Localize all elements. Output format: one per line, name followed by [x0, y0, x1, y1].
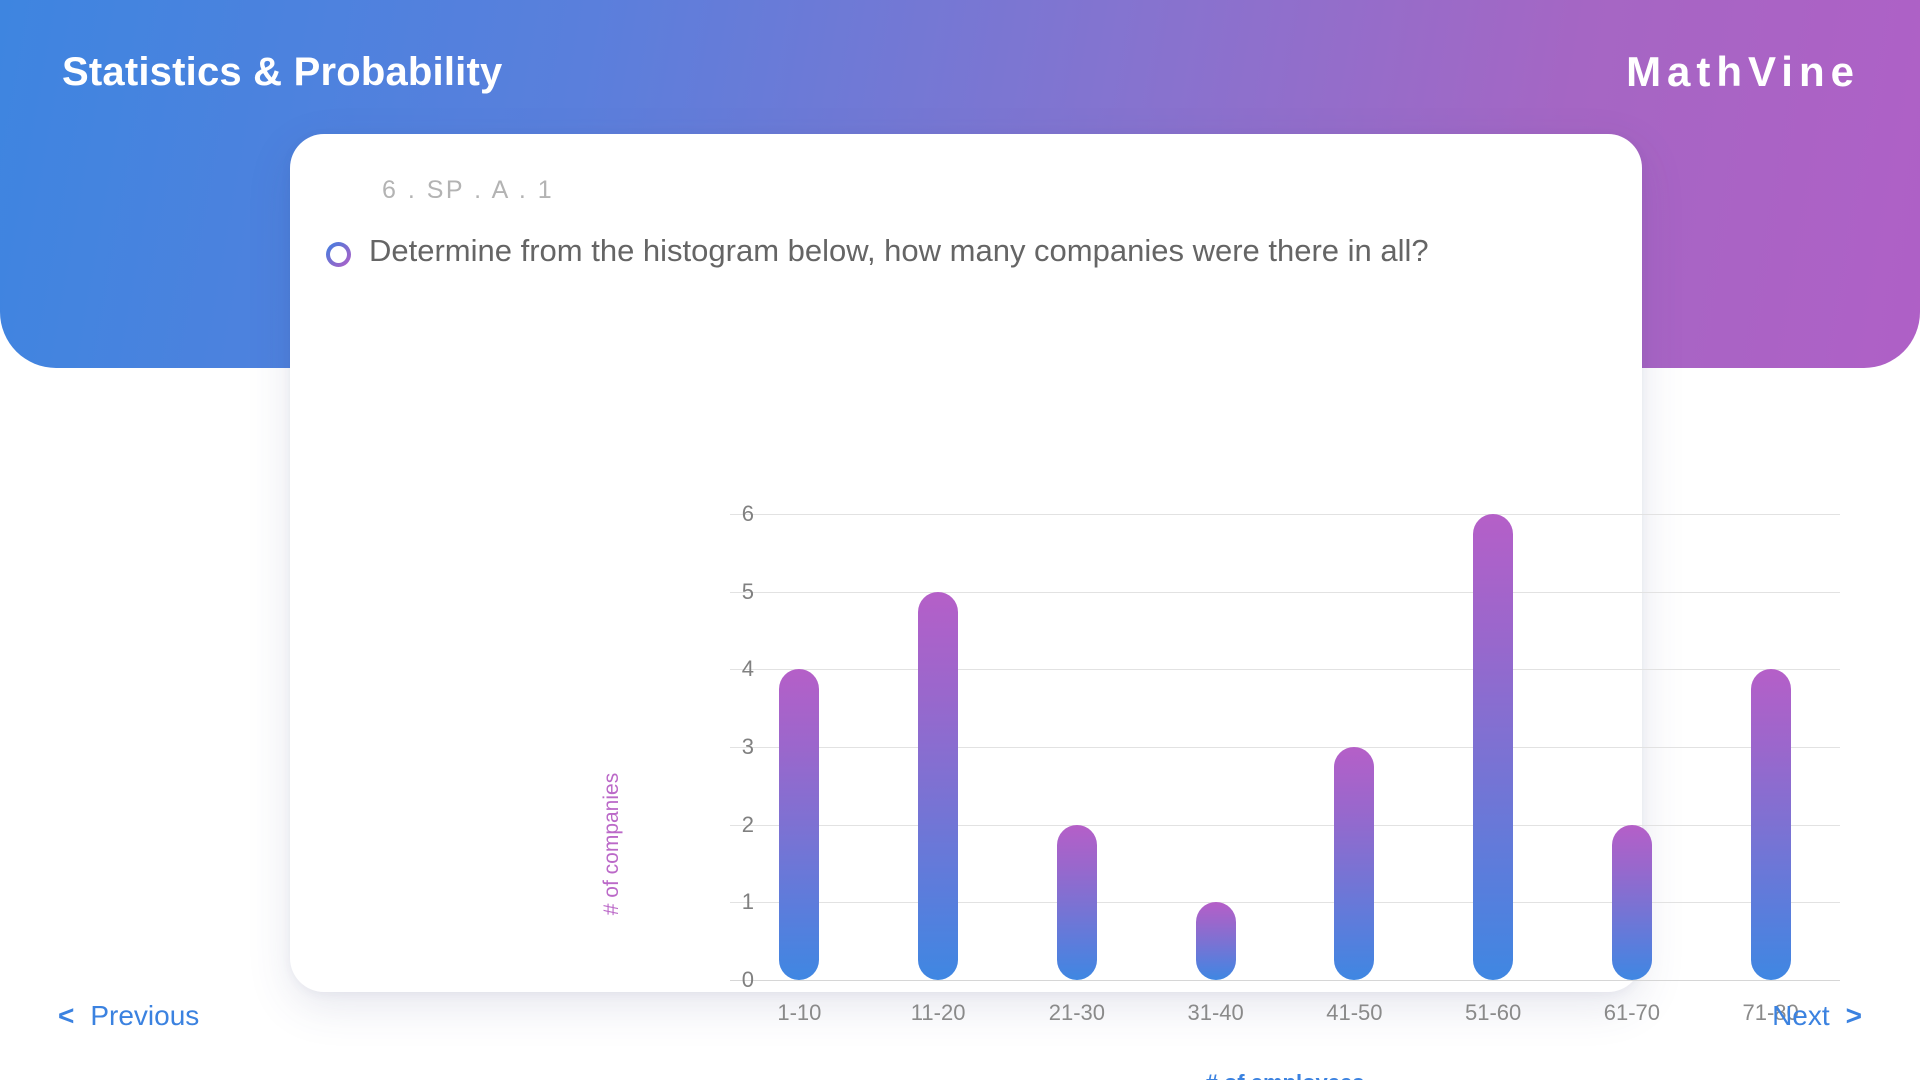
bar-slot	[869, 514, 1008, 980]
brand-logo: MathVine	[1626, 48, 1860, 96]
answer-radio-button[interactable]	[326, 242, 351, 267]
bar-slot	[1146, 514, 1285, 980]
bar	[1473, 514, 1513, 980]
bar-slot	[1285, 514, 1424, 980]
bar-slot	[1424, 514, 1563, 980]
x-axis-tick-label: 1-10	[729, 1000, 869, 1026]
standard-code: 6 . SP . A . 1	[382, 176, 554, 205]
x-axis-tick-label: 31-40	[1146, 1000, 1286, 1026]
chevron-right-icon: >	[1846, 1002, 1862, 1030]
previous-button-label: Previous	[90, 1000, 199, 1032]
x-axis-tick-label: 11-20	[868, 1000, 1008, 1026]
x-axis-tick-label: 51-60	[1423, 1000, 1563, 1026]
bar	[918, 592, 958, 980]
x-axis-tick-label: 41-50	[1284, 1000, 1424, 1026]
page-root: Statistics & Probability MathVine 6 . SP…	[0, 0, 1920, 1080]
bar	[1057, 825, 1097, 980]
previous-button[interactable]: < Previous	[58, 1000, 199, 1032]
y-axis-title: # of companies	[600, 773, 624, 915]
next-button-label: Next	[1772, 1000, 1830, 1032]
chevron-left-icon: <	[58, 1002, 74, 1030]
bar	[1196, 902, 1236, 980]
bar-slot	[1008, 514, 1147, 980]
bar-slot	[730, 514, 869, 980]
x-axis-tick-label: 61-70	[1562, 1000, 1702, 1026]
bar-series	[730, 514, 1840, 980]
bar-slot	[1563, 514, 1702, 980]
next-button[interactable]: Next >	[1772, 1000, 1862, 1032]
question-card: 6 . SP . A . 1 Determine from the histog…	[290, 134, 1642, 992]
bar	[1334, 747, 1374, 980]
x-axis-title: # of employees	[730, 1070, 1840, 1080]
radio-inner-dot	[330, 246, 347, 263]
bar	[1612, 825, 1652, 980]
bar	[1751, 669, 1791, 980]
bar-slot	[1701, 514, 1840, 980]
histogram-chart: # of companies 6543210 1-1011-2021-3031-…	[290, 334, 1642, 974]
x-axis-tick-label: 21-30	[1007, 1000, 1147, 1026]
page-title: Statistics & Probability	[62, 50, 502, 95]
plot-area: 6543210 1-1011-2021-3031-4041-5051-6061-…	[730, 514, 1840, 980]
gridline	[730, 980, 1840, 981]
question-text: Determine from the histogram below, how …	[369, 230, 1429, 272]
question-row: Determine from the histogram below, how …	[326, 230, 1572, 272]
bar	[779, 669, 819, 980]
